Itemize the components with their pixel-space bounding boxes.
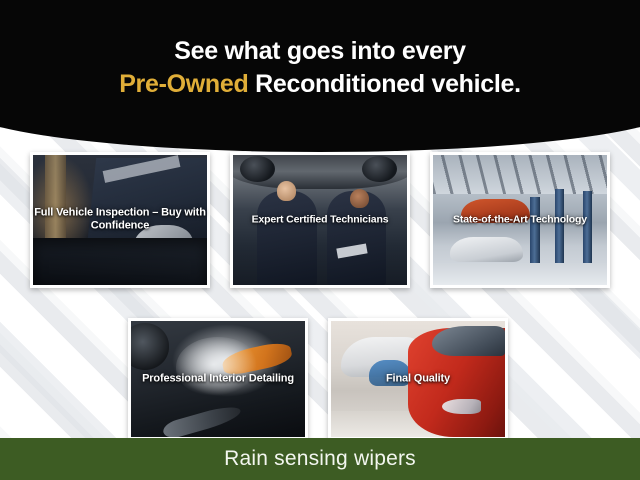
caption-text: Rain sensing wipers [224,447,416,471]
photo-detail-ceiling-trusses [433,155,607,194]
photo-detail-lift-post-3 [583,191,593,264]
photo-detail-tire-left [240,156,275,182]
photo-detail-lift-post-2 [555,189,565,264]
header-banner: See what goes into every Pre-Owned Recon… [0,0,640,152]
photo-detail-lift-post-1 [530,197,540,265]
caption-bar: Rain sensing wipers [0,438,640,480]
card-state-of-the-art-technology[interactable]: State-of-the-Art Technology [430,152,610,288]
card-label-inspection: Full Vehicle Inspection – Buy with Confi… [30,207,210,234]
headline-line-2-rest: Reconditioned vehicle. [248,70,520,98]
photo-detail-head-a [277,181,296,201]
card-row-top: Full Vehicle Inspection – Buy with Confi… [30,152,610,288]
photo-detail-tire-right [362,156,397,182]
photo-detail-shop-floor [433,263,607,285]
card-row-bottom: Professional Interior Detailing Final Qu… [128,318,508,440]
card-label-detailing: Professional Interior Detailing [128,372,308,385]
card-label-technicians: Expert Certified Technicians [230,214,410,227]
promo-slide: See what goes into every Pre-Owned Recon… [0,0,640,480]
photo-detail-steam-cloud [176,337,260,397]
photo-detail-headlight [442,399,480,414]
headline-line-2: Pre-Owned Reconditioned vehicle. [119,68,521,101]
photo-detail-windshield [432,326,505,356]
card-final-quality[interactable]: Final Quality [328,318,508,440]
photo-detail-head-b [350,189,369,209]
header-content: See what goes into every Pre-Owned Recon… [0,0,640,152]
photo-detail-steam-nozzle [161,402,243,437]
photo-detail-white-wagon [450,237,523,262]
photo-detail-technician-a [257,191,316,285]
card-expert-certified-technicians[interactable]: Expert Certified Technicians [230,152,410,288]
card-label-technology: State-of-the-Art Technology [430,214,610,227]
card-professional-interior-detailing[interactable]: Professional Interior Detailing [128,318,308,440]
photo-detail-uniform-stripe [102,155,179,182]
photo-detail-wheel [131,323,169,369]
headline-accent-word: Pre-Owned [119,70,248,98]
headline-line-1: See what goes into every [174,35,466,68]
card-full-vehicle-inspection[interactable]: Full Vehicle Inspection – Buy with Confi… [30,152,210,288]
card-label-final-quality: Final Quality [328,372,508,385]
